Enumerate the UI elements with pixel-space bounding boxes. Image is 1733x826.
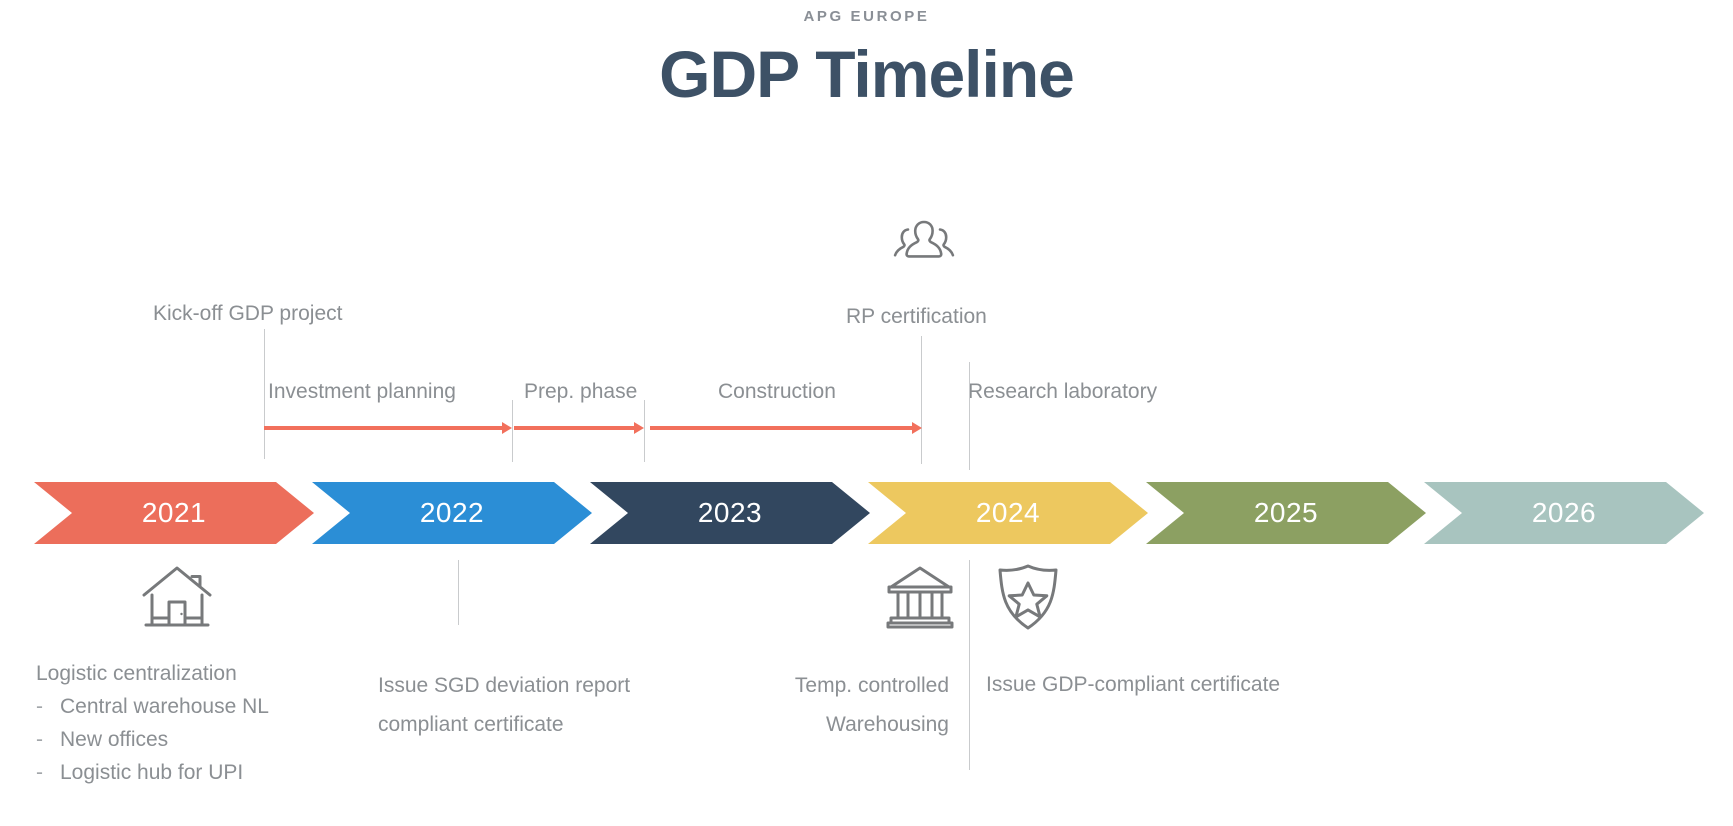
label-warehousing-line2: Warehousing: [779, 711, 949, 739]
label-rp-certification: RP certification: [846, 303, 987, 331]
year-chevron-2024[interactable]: 2024: [868, 482, 1148, 544]
leader-line-sgd: [458, 560, 459, 625]
year-label-2021: 2021: [142, 497, 206, 529]
year-chevron-2025[interactable]: 2025: [1146, 482, 1426, 544]
label-phase-construction: Construction: [718, 378, 836, 406]
leader-line-rp-certification: [921, 336, 922, 464]
phase-arrow-construction: [650, 425, 922, 431]
label-sgd-line2: compliant certificate: [378, 711, 564, 739]
eyebrow-label: APG EUROPE: [0, 8, 1733, 25]
year-chevron-2026[interactable]: 2026: [1424, 482, 1704, 544]
page-title: GDP Timeline: [0, 36, 1733, 112]
label-sgd-line1: Issue SGD deviation report: [378, 672, 630, 700]
bank-building-icon: [884, 563, 956, 631]
logistic-centralization-block: Logistic centralization - Central wareho…: [36, 662, 269, 785]
bullet-marker: -: [36, 695, 46, 719]
phase-divider-1: [512, 400, 513, 462]
label-gdp-certificate: Issue GDP-compliant certificate: [986, 671, 1280, 699]
phase-arrow-investment-planning: [264, 425, 512, 431]
phase-divider-2: [644, 400, 645, 462]
bullet-marker: -: [36, 728, 46, 752]
shield-star-icon: [992, 560, 1064, 634]
leader-line-warehousing: [969, 560, 970, 770]
label-warehousing-line1: Temp. controlled: [779, 672, 949, 700]
year-label-2024: 2024: [976, 497, 1040, 529]
label-kickoff: Kick-off GDP project: [153, 300, 342, 328]
list-item: - Logistic hub for UPI: [36, 761, 269, 785]
people-group-icon: [884, 215, 964, 270]
label-phase-prep: Prep. phase: [524, 378, 637, 406]
list-item-label: Central warehouse NL: [60, 695, 269, 719]
year-chevron-row: 2021 2022 2023 2024 2025 2026: [0, 482, 1733, 544]
year-chevron-2021[interactable]: 2021: [34, 482, 314, 544]
year-label-2025: 2025: [1254, 497, 1318, 529]
year-label-2022: 2022: [420, 497, 484, 529]
logistic-heading: Logistic centralization: [36, 662, 269, 686]
label-research-laboratory: Research laboratory: [968, 378, 1157, 406]
leader-line-kickoff: [264, 329, 265, 459]
leader-line-research-laboratory: [969, 362, 970, 470]
bullet-marker: -: [36, 761, 46, 785]
list-item-label: Logistic hub for UPI: [60, 761, 243, 785]
house-icon: [140, 562, 214, 634]
year-chevron-2022[interactable]: 2022: [312, 482, 592, 544]
list-item-label: New offices: [60, 728, 168, 752]
label-phase-investment-planning: Investment planning: [268, 378, 456, 406]
timeline-infographic: APG EUROPE GDP Timeline Kick-off GDP pro…: [0, 0, 1733, 826]
list-item: - Central warehouse NL: [36, 695, 269, 719]
list-item: - New offices: [36, 728, 269, 752]
year-chevron-2023[interactable]: 2023: [590, 482, 870, 544]
phase-arrow-prep: [514, 425, 644, 431]
year-label-2026: 2026: [1532, 497, 1596, 529]
year-label-2023: 2023: [698, 497, 762, 529]
